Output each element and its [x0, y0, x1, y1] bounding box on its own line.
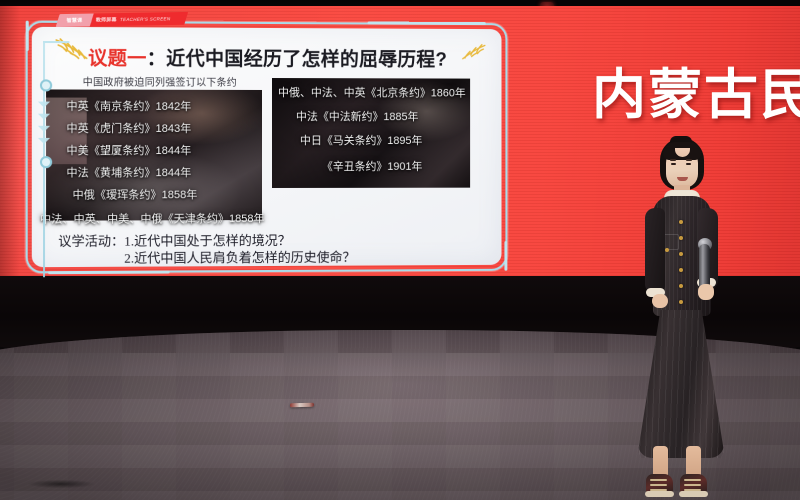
presenter-figure	[620, 138, 738, 486]
presenter-dress-button-4	[679, 268, 683, 272]
slide-accent-top-right	[368, 22, 486, 26]
connector-dot-top	[40, 79, 52, 91]
treaty-left-3: 中美《望厦条约》1844年	[66, 142, 191, 158]
ribbon-left-chip: 智慧课	[56, 14, 94, 28]
connector-dot-bottom	[40, 156, 52, 168]
treaty-right-3: 中日《马关条约》1895年	[300, 132, 422, 148]
boot-lace-l1	[650, 479, 667, 481]
presenter-dress-button-5	[679, 284, 683, 288]
chevron-down-icon-2	[38, 114, 50, 120]
wall-headline-text: 内蒙古民	[592, 50, 800, 129]
lecture-stage-scene: 智慧课 教师屏幕 TEACHER'S SCREEN	[0, 0, 800, 500]
led-wall-left-shadow	[0, 6, 20, 306]
treaty-right-2: 中法《中法新约》1885年	[296, 108, 418, 124]
presenter-skirt	[638, 310, 724, 458]
presenter-eyebrow-right	[686, 159, 692, 161]
presenter-floor-shadow	[14, 478, 108, 490]
presenter-eye-left	[671, 163, 676, 165]
boot-lace-l2	[650, 484, 667, 486]
activity-item-2: 2.近代中国人民肩负着怎样的历史使命？	[124, 249, 355, 267]
treaty-left-2: 中英《虎门条约》1843年	[66, 120, 191, 136]
chevron-down-icon-4	[38, 138, 50, 144]
ribbon-tag-red-cn: 教师屏幕	[96, 16, 117, 23]
presenter-dress-button-1	[679, 220, 683, 224]
treaty-left-1: 中英《南京条约》1842年	[66, 98, 191, 114]
presenter-hand-right	[698, 284, 714, 300]
ribbon-tag-cn: 智慧课	[67, 17, 83, 24]
presenter-dress-button-3	[679, 252, 683, 256]
presenter-eyebrow-left	[670, 159, 676, 161]
slide-title: 议题一：近代中国经历了怎样的屈辱历程?	[32, 43, 502, 72]
treaty-right-4: 《辛丑条约》1901年	[322, 158, 423, 174]
discussion-activity-block: 议学活动： 1.近代中国处于怎样的境况？ 2.近代中国人民肩负着怎样的历史使命？	[58, 232, 355, 267]
slide-subtitle: 中国政府被迫同列强签订以下条约	[83, 73, 237, 89]
treaty-wide-tianjin: 中法、中英、中美、中俄《天津条约》1858年	[40, 210, 265, 227]
treaty-left-5: 中俄《瑷珲条约》1858年	[73, 186, 198, 202]
connector-top-stub	[43, 41, 69, 43]
floor-marker-tape	[290, 403, 314, 408]
slide-content-card: 议题一：近代中国经历了怎样的屈辱历程? 中国政府被迫同列强签订以下条约 中英《南…	[32, 27, 502, 267]
treaty-left-4: 中法《黄埔条约》1844年	[66, 164, 191, 180]
presenter-arm-left	[645, 208, 665, 294]
slide-accent-bottom-right	[504, 241, 507, 271]
slide-accent-bottom-left	[48, 271, 170, 275]
slide-title-rest: ：近代中国经历了怎样的屈辱历程?	[147, 48, 447, 70]
boot-lace-r2	[684, 484, 701, 486]
presenter-eye-right	[686, 163, 691, 165]
ribbon-right-chip: 教师屏幕 TEACHER'S SCREEN	[90, 12, 189, 27]
presenter-hand-left	[652, 294, 668, 308]
presenter-pocket-button	[665, 248, 669, 252]
activity-label: 议学活动：	[58, 233, 124, 250]
presenter-hair-fringe	[663, 142, 701, 160]
slide-left-connector	[32, 39, 56, 281]
presenter-boot-sole-right	[679, 491, 708, 497]
slide-accent-top-left	[26, 21, 29, 51]
presentation-slide: 议题一：近代中国经历了怎样的屈辱历程? 中国政府被迫同列强签订以下条约 中英《南…	[26, 21, 508, 274]
ribbon-tag-en: TEACHER'S SCREEN	[120, 16, 171, 22]
presenter-dress-button-2	[679, 236, 683, 240]
treaty-right-1: 中俄、中法、中英《北京条约》1860年	[278, 84, 466, 100]
presenter-dress-button-6	[679, 300, 683, 304]
activity-item-1: 1.近代中国处于怎样的境况？	[124, 232, 355, 250]
chevron-down-icon-3	[38, 126, 50, 132]
slide-title-highlight: 议题一	[88, 48, 147, 69]
teacher-screen-ribbon: 智慧课 教师屏幕 TEACHER'S SCREEN	[56, 12, 189, 27]
boot-lace-r1	[684, 479, 701, 481]
presenter-boot-sole-left	[645, 491, 674, 497]
chevron-down-icon-1	[38, 102, 50, 108]
activity-items: 1.近代中国处于怎样的境况？ 2.近代中国人民肩负着怎样的历史使命？	[124, 232, 355, 267]
